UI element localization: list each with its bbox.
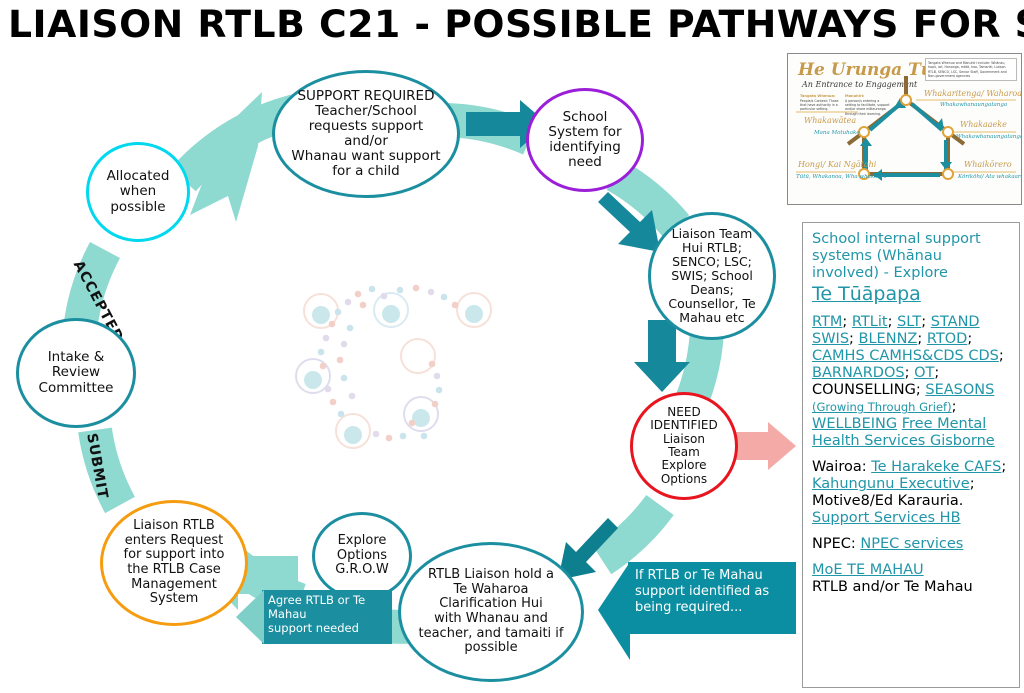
service-text: ; <box>917 331 927 347</box>
hu-sublabel-waharoa: Whakawhanaungatanga <box>940 102 1007 108</box>
service-link[interactable]: BARNARDOS <box>812 365 905 381</box>
service-link[interactable]: OT <box>914 365 934 381</box>
node-intake-review-label: Intake & Review Committee <box>33 348 120 397</box>
hu-label-whakawatea: Whakawātea <box>804 116 856 125</box>
service-link[interactable]: WELLBEING <box>812 416 897 432</box>
service-link[interactable]: SLT <box>897 314 921 330</box>
node-case-management[interactable]: Liaison RTLB enters Request for support … <box>100 500 248 626</box>
moe-plain: RTLB and/or Te Mahau <box>812 579 973 595</box>
node-explore-options[interactable]: Explore Options G.R.O.W <box>312 512 412 600</box>
hu-label-whaikorero: Whaikōrero <box>964 160 1012 169</box>
service-text: ; <box>849 331 859 347</box>
diagram-canvas: LIAISON RTLB C21 - POSSIBLE PATHWAYS FOR… <box>0 0 1024 693</box>
support-services-panel: School internal support systems (Whānau … <box>802 222 1020 688</box>
service-text: ; <box>842 314 852 330</box>
link-moe-te-mahau[interactable]: MoE TE MAHAU <box>812 562 924 578</box>
support-panel-wairoa: Wairoa: Te Harakeke CAFS; Kahungunu Exec… <box>812 459 1010 527</box>
node-school-system[interactable]: School System for identifying need <box>526 88 644 192</box>
arrowhead-to-liaison-team <box>598 192 660 252</box>
wairoa-plain: Motive8/Ed Karauria. <box>812 493 963 509</box>
support-panel-services[interactable]: RTM; RTLit; SLT; STAND SWIS; BLENNZ; RTO… <box>812 314 1010 450</box>
link-kahungunu-executive[interactable]: Kahungunu Executive <box>812 476 970 492</box>
he-urunga-tu-image: He Urunga Tū An Entrance to Engagement T… <box>787 53 1022 205</box>
service-text: ; <box>888 314 898 330</box>
node-liaison-team-label: Liaison Team Hui RTLB; SENCO; LSC; SWIS;… <box>662 225 761 327</box>
service-link[interactable]: SEASONS <box>925 382 994 398</box>
service-link[interactable]: RTOD <box>927 331 967 347</box>
link-npec-services[interactable]: NPEC services <box>860 536 963 552</box>
service-link[interactable]: (Growing Through Grief) <box>812 400 952 414</box>
service-text: ; <box>999 348 1004 364</box>
hu-label-whakaaeke: Whakaaeke <box>960 120 1007 129</box>
service-link[interactable]: RTM <box>812 314 842 330</box>
service-text: COUNSELLING; <box>812 382 925 398</box>
node-liaison-team[interactable]: Liaison Team Hui RTLB; SENCO; LSC; SWIS;… <box>648 212 776 340</box>
callout-if-support-required-label: If RTLB or Te Mahau support identified a… <box>635 568 793 616</box>
service-text: ; <box>905 365 915 381</box>
node-support-required[interactable]: SUPPORT REQUIRED Teacher/School requests… <box>272 70 460 198</box>
service-text: ; <box>967 331 972 347</box>
arrowhead-to-allocated <box>177 92 262 222</box>
page-title: LIAISON RTLB C21 - POSSIBLE PATHWAYS FOR… <box>8 2 1024 48</box>
hu-label-waharoa: Whakaritenga/ Waharoa <box>924 89 1022 98</box>
support-panel-npec: NPEC: NPEC services <box>812 536 1010 553</box>
link-te-tuapapa[interactable]: Te Tūāpapa <box>812 283 1010 305</box>
node-waharoa-hui-label: RTLB Liaison hold a Te Waharoa Clarifica… <box>413 566 570 657</box>
service-text: ; <box>952 399 957 415</box>
service-link[interactable]: CAMHS CAMHS&CDS CDS <box>812 348 999 364</box>
callout-agree-support-label: Agree RTLB or Te Mahau support needed <box>268 594 390 635</box>
wairoa-prefix: Wairoa: <box>812 459 871 475</box>
link-te-harakeke-cafs[interactable]: Te Harakeke CAFS <box>871 459 1001 475</box>
centre-watermark <box>288 248 538 498</box>
hu-sublabel-hongi: Tūtū, Whakanoa, Wha whakaaro <box>796 174 887 180</box>
hu-sublabel-whaikorero: Kōrikōhi/ Ata whakaaro <box>958 174 1022 180</box>
node-waharoa-hui[interactable]: RTLB Liaison hold a Te Waharoa Clarifica… <box>398 542 584 682</box>
hu-sublabel-whakaaeke: Whakawhanaungatanga <box>956 134 1022 140</box>
hu-sublabel-whakawatea: Mana Motuhake <box>814 130 860 136</box>
node-explore-options-label: Explore Options G.R.O.W <box>329 532 395 580</box>
band-label-submit: SUBMIT <box>83 432 110 501</box>
node-case-management-label: Liaison RTLB enters Request for support … <box>118 517 231 608</box>
node-school-system-label: School System for identifying need <box>542 108 627 172</box>
callout-if-support-required: If RTLB or Te Mahau support identified a… <box>628 562 796 634</box>
node-need-identified[interactable]: NEED IDENTIFIED Liaison Team Explore Opt… <box>630 392 738 500</box>
support-panel-moe: MoE TE MAHAU RTLB and/or Te Mahau <box>812 562 1010 596</box>
node-support-required-label: SUPPORT REQUIRED Teacher/School requests… <box>285 87 446 182</box>
node-allocated[interactable]: Allocated when possible <box>86 142 190 242</box>
callout-agree-support: Agree RTLB or Te Mahau support needed <box>262 590 392 644</box>
callout-if-support-arrow <box>598 556 632 666</box>
service-link[interactable]: BLENNZ <box>859 331 918 347</box>
service-text: ; <box>921 314 931 330</box>
support-panel-heading: School internal support systems (Whānau … <box>812 231 1010 282</box>
node-need-identified-label: NEED IDENTIFIED Liaison Team Explore Opt… <box>644 404 723 489</box>
node-intake-review[interactable]: Intake & Review Committee <box>16 318 136 428</box>
hu-label-hongi: Hongi/ Kai Ngātahi <box>798 160 876 169</box>
link-support-services-hb[interactable]: Support Services HB <box>812 510 961 526</box>
node-allocated-label: Allocated when possible <box>101 167 176 216</box>
callout-agree-arrow <box>236 580 266 650</box>
npec-prefix: NPEC: <box>812 536 860 552</box>
service-text: ; <box>934 365 939 381</box>
service-link[interactable]: RTLit <box>852 314 888 330</box>
